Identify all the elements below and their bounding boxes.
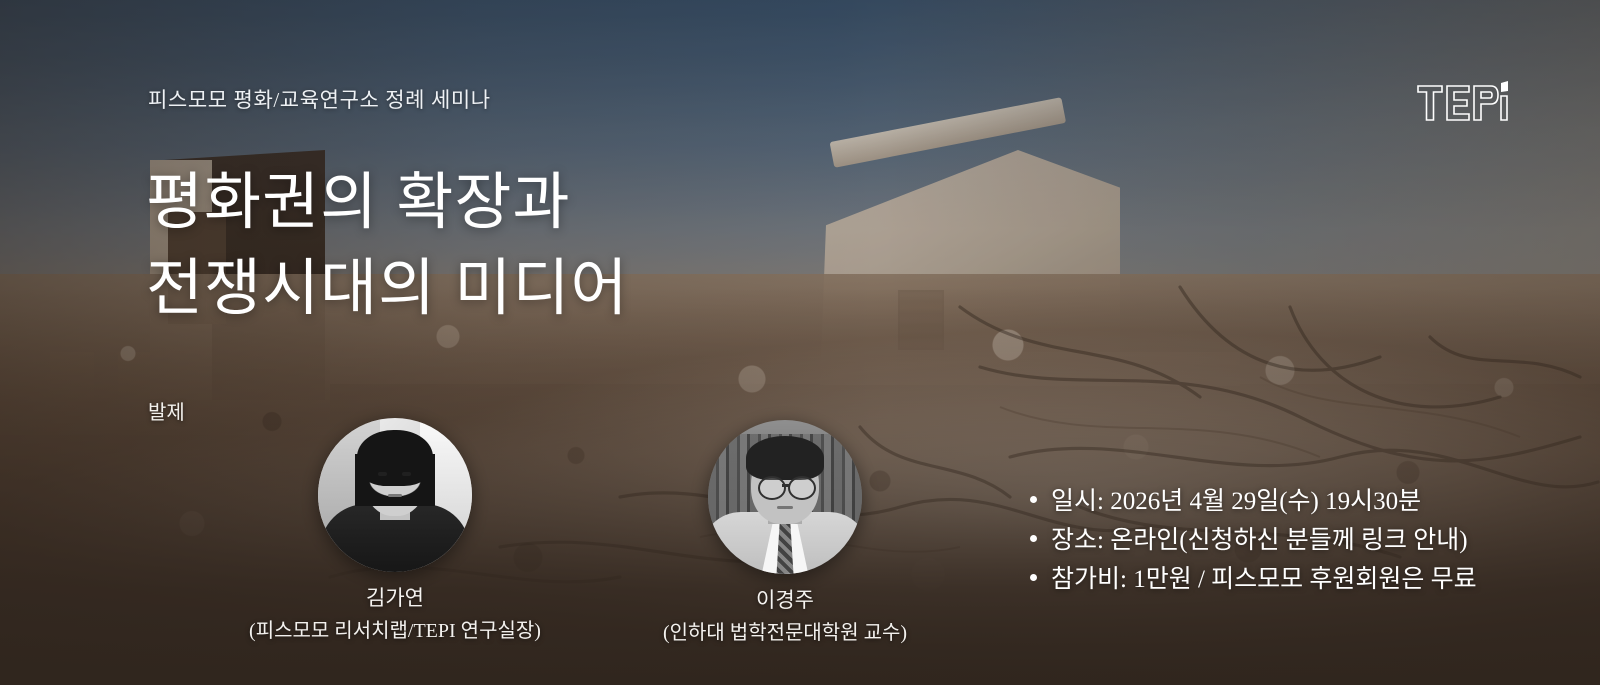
- event-details-list: 일시: 2026년 4월 29일(수) 19시30분 장소: 온라인(신청하신 …: [1030, 489, 1477, 592]
- seminar-poster: 피스모모 평화/교육연구소 정례 세미나 평화권의 확장과 전쟁: [0, 0, 1600, 685]
- page-title: 평화권의 확장과 전쟁시대의 미디어: [146, 160, 629, 331]
- speaker-name: 김가연: [240, 582, 550, 612]
- event-location: 장소: 온라인(신청하신 분들께 링크 안내): [1051, 528, 1468, 553]
- speaker-affiliation: (피스모모 리서치랩/TEPI 연구실장): [240, 614, 550, 643]
- speaker-affiliation: (인하대 법학전문대학원 교수): [640, 616, 930, 645]
- avatar: [318, 418, 472, 572]
- avatar: [708, 420, 862, 574]
- title-line-1: 평화권의 확장과: [146, 160, 629, 246]
- tepi-logo: [1416, 78, 1508, 124]
- poster-content: 피스모모 평화/교육연구소 정례 세미나 평화권의 확장과 전쟁: [0, 0, 1600, 685]
- bullet-icon: [1030, 496, 1037, 503]
- speaker-name: 이경주: [640, 584, 930, 614]
- event-datetime: 일시: 2026년 4월 29일(수) 19시30분: [1051, 489, 1421, 514]
- bullet-icon: [1030, 574, 1037, 581]
- bullet-icon: [1030, 535, 1037, 542]
- speaker-card-1: 이경주 (인하대 법학전문대학원 교수): [640, 420, 930, 645]
- list-item: 참가비: 1만원 / 피스모모 후원회원은 무료: [1030, 567, 1477, 592]
- title-line-2: 전쟁시대의 미디어: [146, 246, 629, 332]
- list-item: 장소: 온라인(신청하신 분들께 링크 안내): [1030, 528, 1477, 553]
- speaker-card-0: 김가연 (피스모모 리서치랩/TEPI 연구실장): [240, 418, 550, 643]
- event-fee: 참가비: 1만원 / 피스모모 후원회원은 무료: [1051, 567, 1477, 592]
- presenter-section-label: 발제: [148, 396, 185, 425]
- organization-kicker: 피스모모 평화/교육연구소 정례 세미나: [148, 84, 491, 114]
- list-item: 일시: 2026년 4월 29일(수) 19시30분: [1030, 489, 1477, 514]
